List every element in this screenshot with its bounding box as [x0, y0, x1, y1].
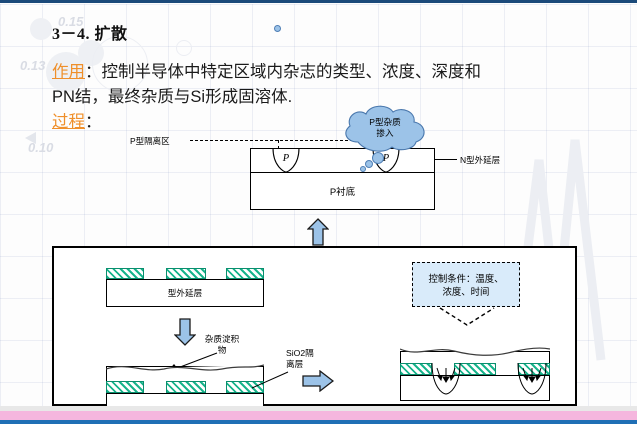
cloud-caption-line2: 掺入 — [347, 128, 423, 139]
cloud-tail-large — [372, 152, 384, 164]
body-line-3: 过程： — [52, 108, 102, 132]
epi-layer-label: 型外延层 — [168, 288, 202, 299]
oxide-mask-block — [226, 268, 264, 279]
pink-band — [0, 411, 637, 420]
control-conditions-note: 控制条件：温度、 浓度、时间 — [412, 262, 520, 307]
cloud-caption-line1: P型杂质 — [347, 117, 423, 128]
cloud-bubble-tiny — [274, 25, 281, 32]
substrate-box: P衬底 — [250, 173, 435, 210]
oxide-caption-line1: SiO2隔 — [286, 348, 334, 359]
control-note-line2: 浓度、时间 — [428, 285, 503, 298]
right-arrow-icon — [302, 370, 334, 392]
watermark-value: 0.13 — [20, 58, 45, 73]
epi-wafer-box: 型外延层 — [106, 279, 264, 307]
body-line-1: 作用：控制半导体中特定区域内杂志的类型、浓度、深度和 — [52, 58, 481, 82]
wavy-diffused-surface — [400, 344, 550, 360]
note-dashed-pointer — [434, 307, 500, 329]
control-note-line1: 控制条件：温度、 — [428, 272, 503, 285]
diffusion-arrows — [400, 360, 550, 402]
up-arrow-icon — [307, 218, 329, 246]
oxide-caption-line2: 离层 — [286, 359, 334, 370]
body-line-2: PN结，最终杂质与Si形成固溶体. — [52, 83, 292, 107]
decor-triangle — [22, 130, 40, 146]
oxide-caption: SiO2隔 离层 — [286, 348, 334, 370]
watermark-value: 0.10 — [28, 140, 53, 155]
decor-blob — [30, 18, 52, 40]
wavy-deposit-surface — [106, 360, 264, 376]
process-frame: 型外延层 杂质淀积 物 SiO2隔 离层 — [52, 246, 577, 406]
cloud-tail-small — [360, 166, 366, 172]
decor-ring — [176, 40, 192, 56]
n-epi-leader-line — [435, 159, 457, 160]
page-title: 3－4. 扩散 — [52, 20, 128, 44]
body-text-2: PN结，最终杂质与Si形成固溶体. — [52, 88, 292, 106]
body-text-1: 控制半导体中特定区域内杂志的类型、浓度、深度和 — [102, 63, 482, 81]
top-device-diagram: P型隔离区 P P P衬底 N型外延层 — [130, 126, 530, 226]
bottom-rule — [0, 420, 637, 424]
p-well-label-left: P — [270, 153, 302, 164]
cloud-tail-mid — [365, 160, 373, 168]
oxide-mask-block — [166, 381, 206, 393]
cloud-caption: P型杂质 掺入 — [347, 117, 423, 139]
oxide-mask-block — [166, 268, 206, 279]
oxide-leader-line — [250, 368, 290, 392]
oxide-mask-block — [106, 381, 144, 393]
oxide-mask-block — [106, 268, 144, 279]
body-colon-2: ： — [85, 113, 102, 131]
body-label-process: 过程 — [52, 113, 85, 131]
body-label-purpose: 作用 — [52, 63, 85, 81]
top-rule — [0, 0, 637, 3]
substrate-label: P衬底 — [330, 184, 355, 198]
body-colon: ： — [85, 63, 102, 81]
p-well-left: P — [270, 148, 302, 173]
deposit-caption-line1: 杂质淀积 — [192, 334, 252, 345]
slide-canvas: 0.15 0.13 0.10 3－4. 扩散 作用：控制半导体中特定区域内杂志的… — [0, 0, 637, 424]
label-p-isolation: P型隔离区 — [130, 135, 170, 147]
label-n-epitaxial: N型外延层 — [460, 154, 500, 166]
